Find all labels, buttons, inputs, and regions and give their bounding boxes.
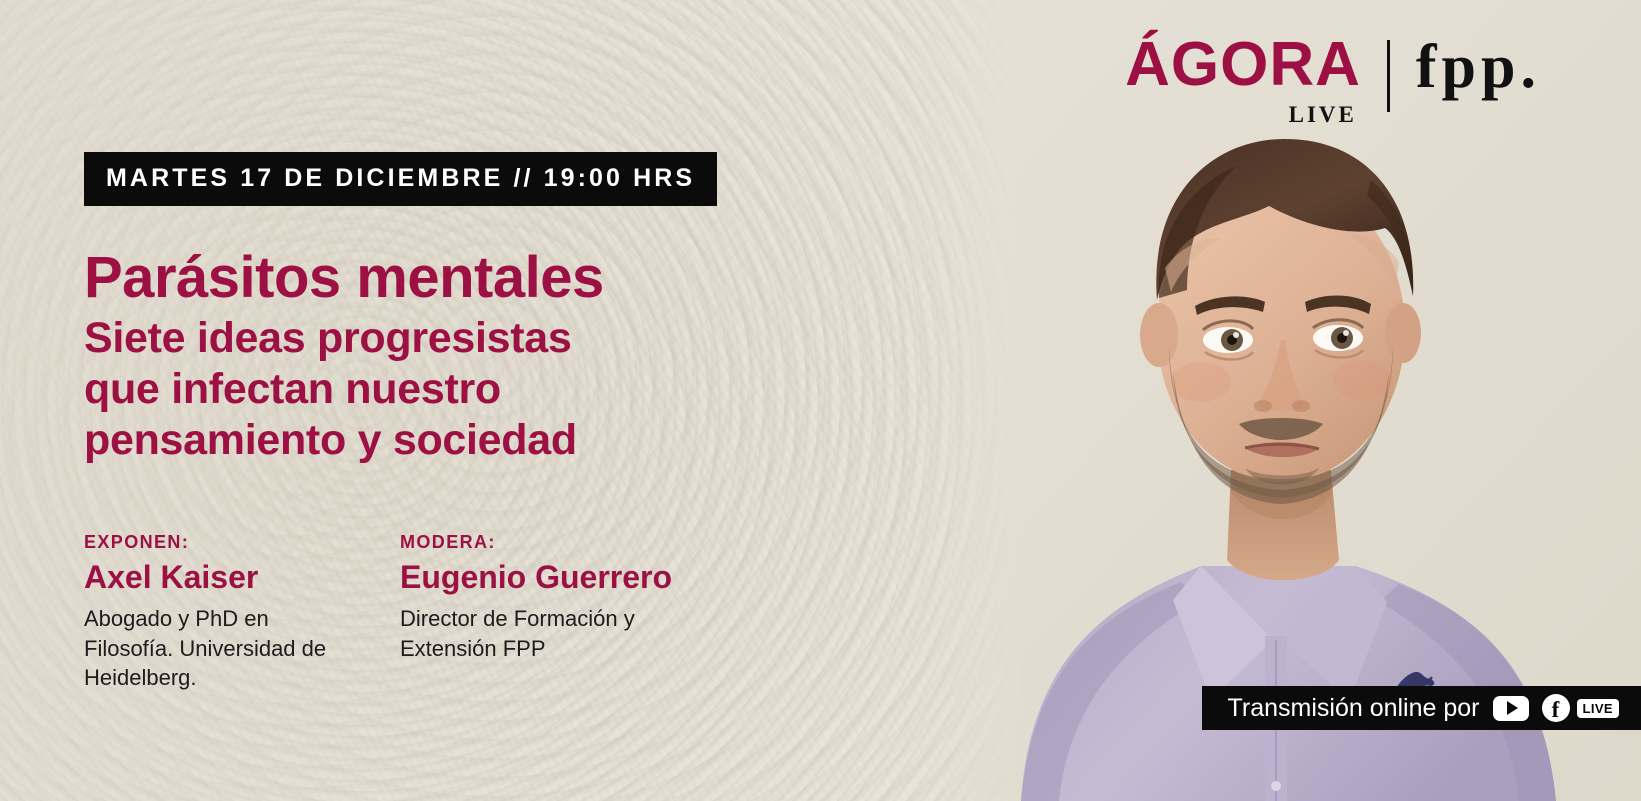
credit-role-label: EXPONEN: [84,532,354,553]
credit-role-label: MODERA: [400,532,670,553]
fpp-wordmark: fpp. [1416,36,1541,98]
credit-moderator: MODERA: Eugenio Guerrero Director de For… [400,532,670,693]
agora-live-label: LIVE [1289,102,1357,128]
youtube-icon[interactable] [1493,696,1529,721]
agora-logo-group: ÁGORA LIVE [1125,36,1361,128]
broadcast-label: Transmisión online por [1228,694,1480,723]
subtitle-line: que infectan nuestro [84,364,604,415]
broadcast-bar: Transmisión online por f LIVE [1202,686,1641,730]
logo-divider [1387,40,1390,112]
brand-logo-lockup: ÁGORA LIVE fpp. [1125,36,1541,128]
credit-person-description: Abogado y PhD en Filosofía. Universidad … [84,604,354,692]
agora-wordmark: ÁGORA [1125,36,1361,95]
headline-block: Parásitos mentales Siete ideas progresis… [84,248,604,466]
subtitle-line: Siete ideas progresistas [84,313,604,364]
event-poster: ÁGORA LIVE fpp. MARTES 17 DE DICIEMBRE /… [0,0,1641,801]
event-title: Parásitos mentales [84,248,604,308]
event-date-bar: MARTES 17 DE DICIEMBRE // 19:00 HRS [84,152,717,206]
credits-block: EXPONEN: Axel Kaiser Abogado y PhD en Fi… [84,532,670,693]
credit-person-name: Axel Kaiser [84,560,354,595]
live-badge: LIVE [1577,699,1620,718]
event-subtitle: Siete ideas progresistas que infectan nu… [84,313,604,465]
credit-person-description: Director de Formación y Extensión FPP [400,604,670,663]
credit-person-name: Eugenio Guerrero [400,560,670,595]
credit-speaker: EXPONEN: Axel Kaiser Abogado y PhD en Fi… [84,532,354,693]
subtitle-line: pensamiento y sociedad [84,415,604,466]
facebook-icon[interactable]: f [1542,694,1570,722]
